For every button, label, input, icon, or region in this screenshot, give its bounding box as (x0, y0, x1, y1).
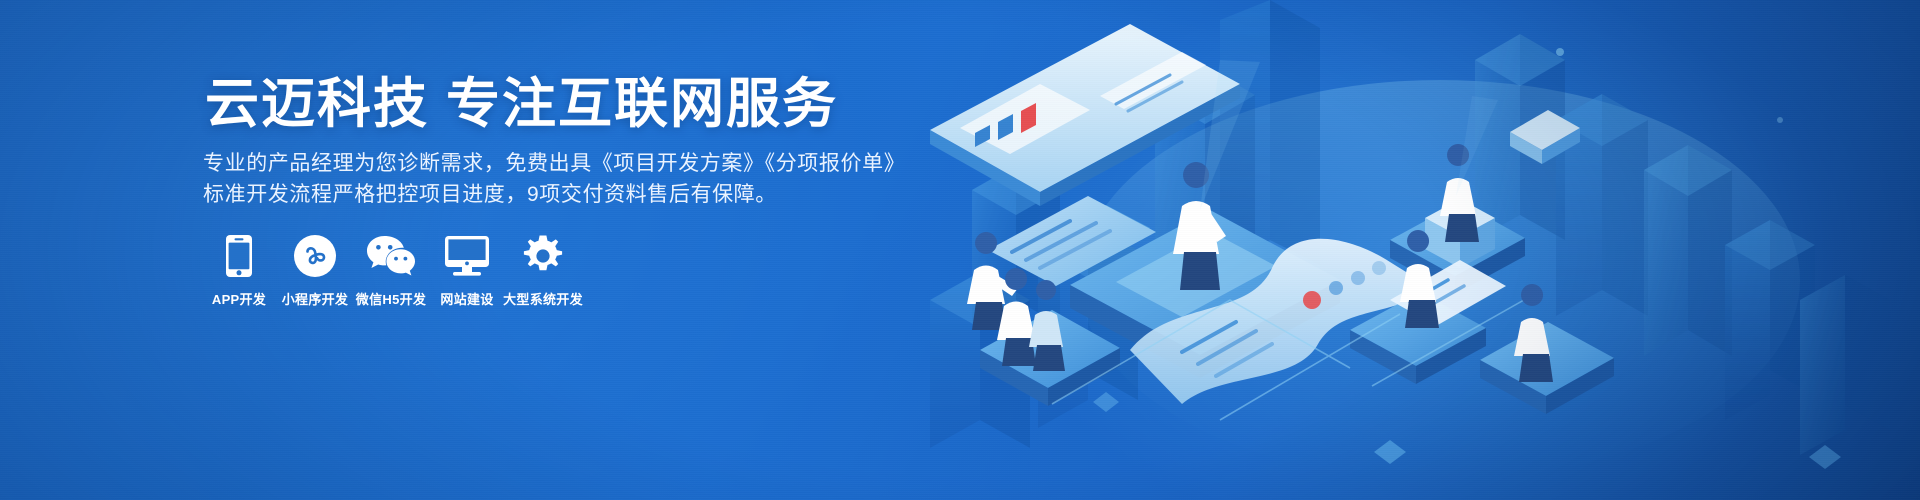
service-label-wechat: 微信H5开发 (356, 289, 426, 308)
service-label-website: 网站建设 (440, 289, 493, 308)
service-item-website[interactable]: 网站建设 (431, 234, 503, 308)
service-label-miniprogram: 小程序开发 (282, 289, 349, 308)
banner-subtitle-line-1: 专业的产品经理为您诊断需求，免费出具《项目开发方案》《分项报价单》 (203, 148, 905, 179)
service-label-app: APP开发 (212, 289, 266, 308)
service-label-system: 大型系统开发 (503, 289, 583, 308)
desktop-monitor-icon (445, 234, 489, 278)
wechat-icon (366, 234, 416, 278)
service-item-app[interactable]: APP开发 (203, 234, 275, 308)
service-list: APP开发 小程序开发 (203, 234, 579, 308)
banner-content: 云迈科技 专注互联网服务 专业的产品经理为您诊断需求，免费出具《项目开发方案》《… (0, 0, 960, 500)
banner-subtitle-line-2: 标准开发流程严格把控项目进度，9项交付资料售后有保障。 (203, 179, 777, 210)
service-item-system[interactable]: 大型系统开发 (507, 234, 579, 308)
gear-icon (522, 234, 564, 278)
banner-title: 云迈科技 专注互联网服务 (205, 72, 838, 136)
mobile-phone-icon (226, 234, 252, 278)
illustration-container (920, 0, 1920, 500)
hero-banner: 云迈科技 专注互联网服务 专业的产品经理为您诊断需求，免费出具《项目开发方案》《… (0, 0, 1920, 500)
mini-program-icon (294, 234, 336, 278)
service-item-wechat[interactable]: 微信H5开发 (355, 234, 427, 308)
service-item-miniprogram[interactable]: 小程序开发 (279, 234, 351, 308)
isometric-tech-team-illustration (920, 0, 1920, 500)
